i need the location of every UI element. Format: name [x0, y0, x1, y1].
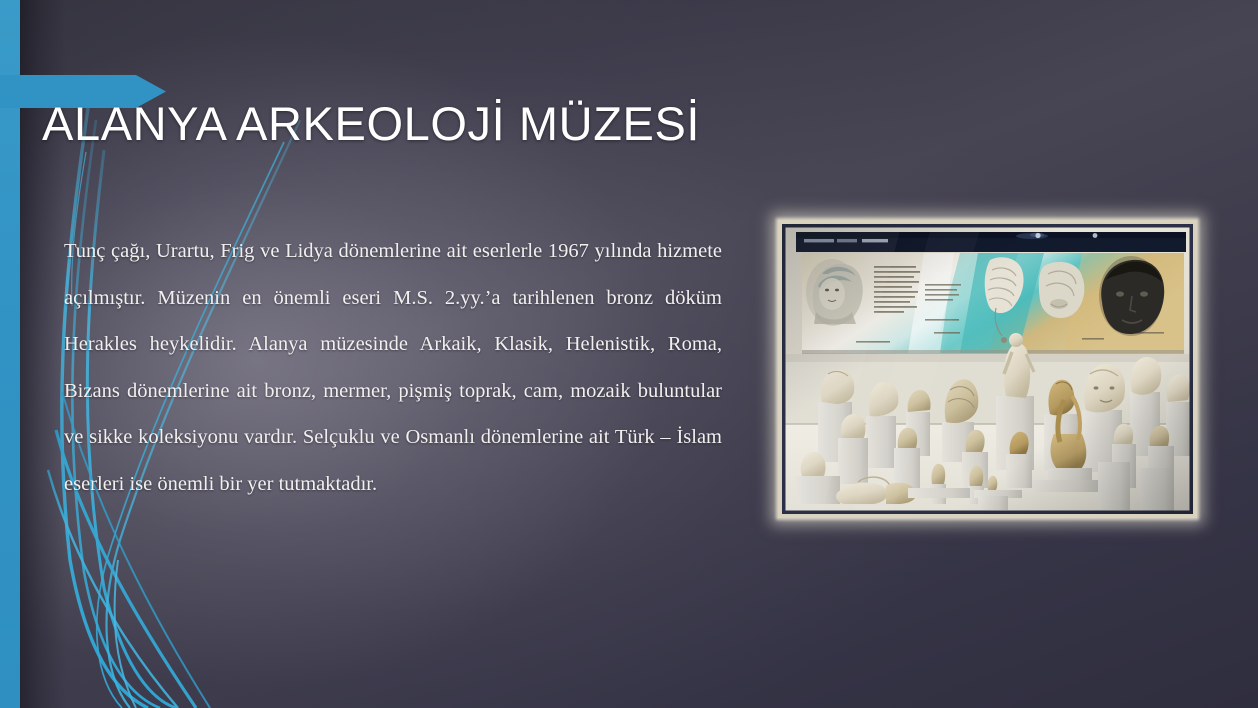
body-paragraph: Tunç çağı, Urartu, Frig ve Lidya dönemle… [64, 228, 722, 507]
slide-title: ALANYA ARKEOLOJİ MÜZESİ [42, 96, 700, 151]
museum-display-case-illustration [782, 224, 1193, 514]
museum-photo-frame [778, 220, 1197, 518]
slide-canvas: ALANYA ARKEOLOJİ MÜZESİ Tunç çağı, Urart… [0, 0, 1258, 708]
museum-photo [782, 224, 1193, 514]
slide-body-text: Tunç çağı, Urartu, Frig ve Lidya dönemle… [64, 228, 722, 507]
